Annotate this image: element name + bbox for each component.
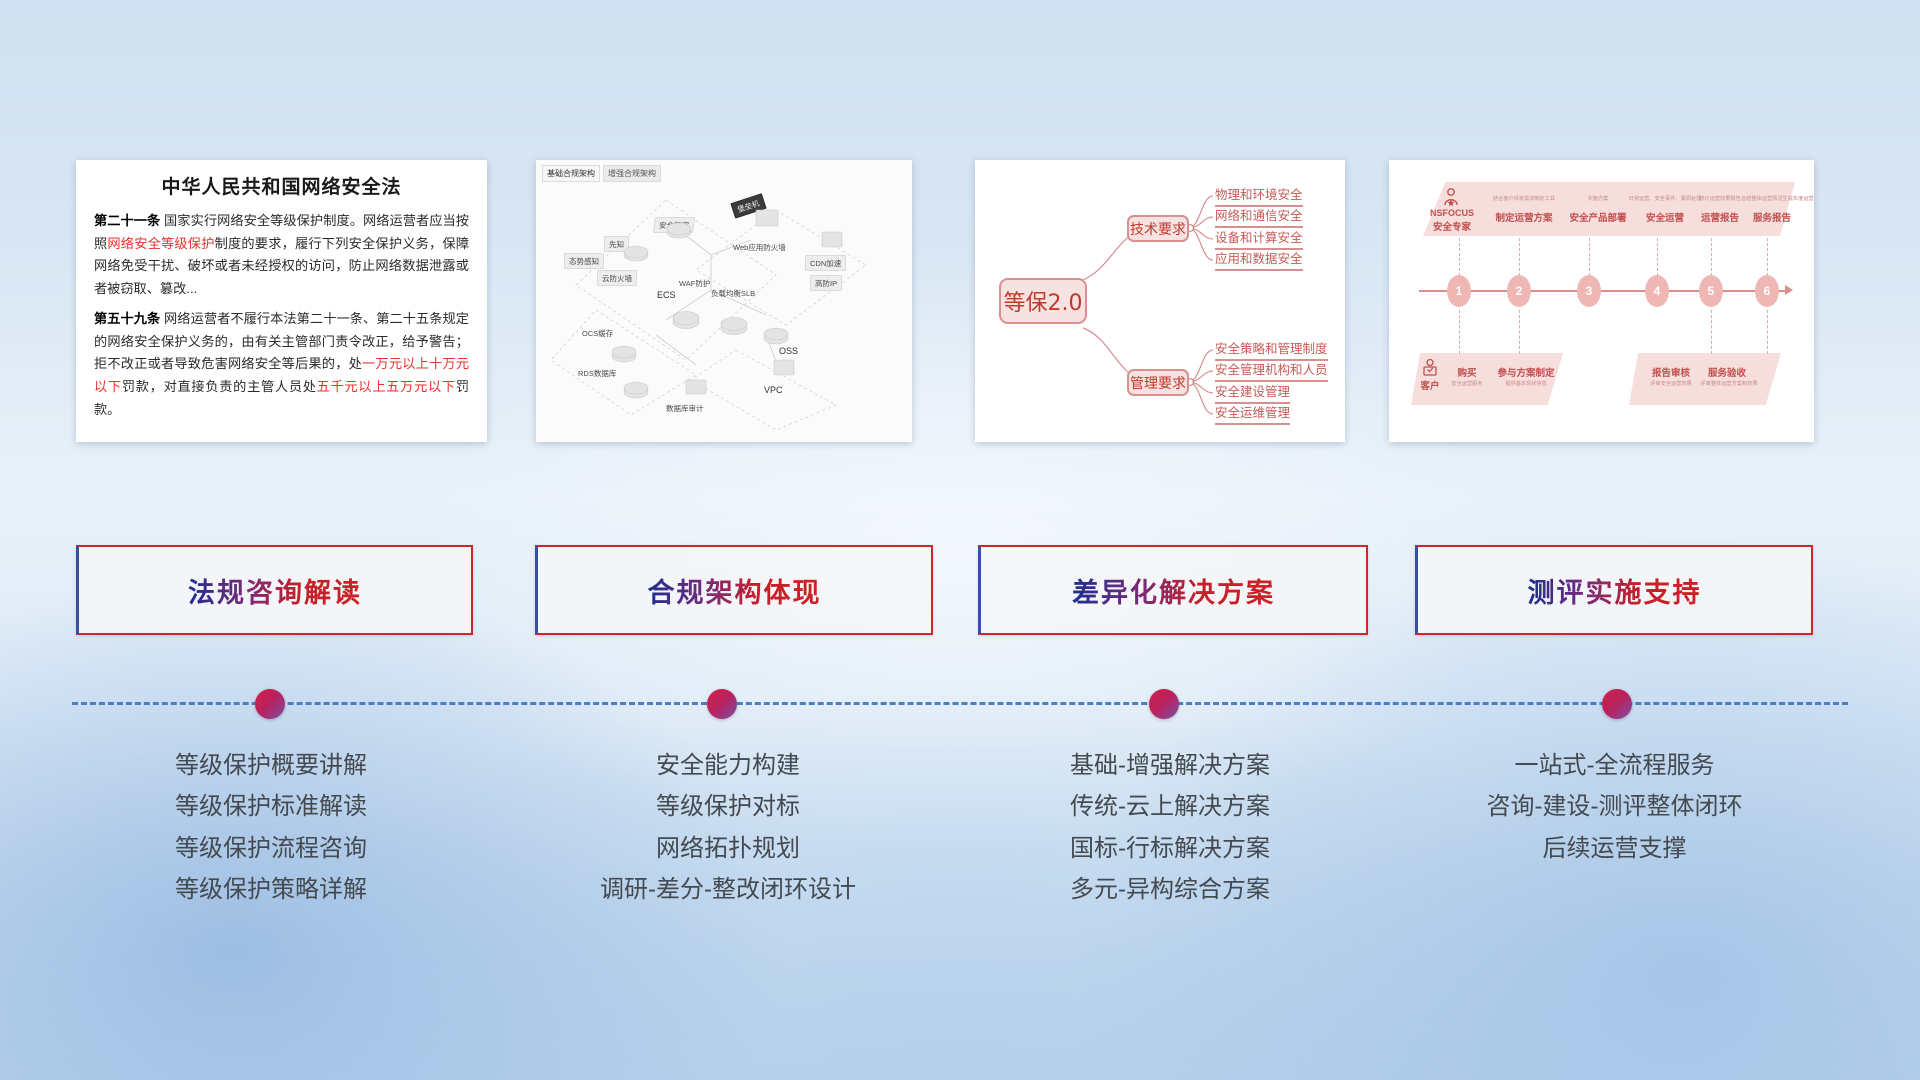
heading-box-differentiated-solutions[interactable]: 差异化解决方案: [978, 545, 1368, 635]
mindmap-root-node: 等保2.0: [999, 278, 1087, 324]
heading-label-3: 差异化解决方案: [1072, 571, 1275, 610]
nsfocus-top-main-1: 制定运营方案: [1485, 210, 1563, 224]
nsfocus-top-main-2: 安全产品部署: [1565, 210, 1631, 224]
mindmap-branch-management: 管理要求: [1127, 369, 1189, 396]
list-item: 多元-异构综合方案: [970, 869, 1370, 910]
nsfocus-top-main-3: 安全运营: [1633, 210, 1697, 224]
mindmap-leaf-org-personnel: 安全管理机构和人员: [1215, 359, 1328, 382]
feature-lists-row: 等级保护概要讲解 等级保护标准解读 等级保护流程咨询 等级保护策略详解 安全能力…: [0, 745, 1920, 945]
nsfocus-bottom-sub-4: 评审整体运营方案和效果: [1695, 380, 1763, 387]
heading-label-2: 合规架构体现: [648, 571, 822, 610]
timeline-dot-3: [1149, 689, 1179, 719]
mindmap-leaf-ops-mgmt: 安全运维管理: [1215, 402, 1290, 425]
nsfocus-connector-1: [1459, 238, 1460, 276]
law-title: 中华人民共和国网络安全法: [94, 172, 469, 199]
list-item: 等级保护策略详解: [76, 869, 466, 910]
architecture-diagram: 基础合规架构 增强合规架构 堡垒机 安全管家 先知: [536, 160, 912, 442]
feature-list-3: 基础-增强解决方案 传统-云上解决方案 国标-行标解决方案 多元-异构综合方案: [970, 745, 1370, 910]
nsfocus-connector-6: [1767, 238, 1768, 276]
mindmap-leaf-construction-mgmt: 安全建设管理: [1215, 381, 1290, 404]
nsfocus-connector-4: [1657, 238, 1658, 276]
thumbnail-cards-row: 中华人民共和国网络安全法 第二十一条 国家实行网络安全等级保护制度。网络运营者应…: [0, 152, 1920, 442]
mindmap-leaf-policy-system: 安全策略和管理制度: [1215, 338, 1328, 361]
nsfocus-top-band: [1423, 182, 1795, 236]
list-item: 后续运营支撑: [1412, 828, 1817, 869]
nsfocus-step-2: 2: [1507, 275, 1531, 307]
article-59-label: 第五十九条: [94, 311, 160, 326]
nsfocus-connector-10: [1767, 310, 1768, 354]
nsfocus-bottom-band-right: [1629, 353, 1781, 405]
nsfocus-bottom-main-2: 参与方案制定: [1493, 365, 1559, 379]
nsfocus-bottom-sub-1: 安全运营服务: [1443, 380, 1491, 387]
article-59-text-2: 罚款，对直接负责的主管人员处: [122, 379, 317, 394]
feature-list-4: 一站式-全流程服务 咨询-建设-测评整体闭环 后续运营支撑: [1412, 745, 1817, 869]
timeline-dot-4: [1602, 689, 1632, 719]
heading-box-regulation-consulting[interactable]: 法规咨询解读: [76, 545, 473, 635]
nsfocus-bottom-main-4: 服务验收: [1701, 365, 1753, 379]
list-item: 网络拓扑规划: [528, 828, 928, 869]
nsfocus-bottom-main-1: 购买: [1447, 365, 1487, 379]
nsfocus-step-6: 6: [1755, 275, 1779, 307]
mindmap-branch-technical: 技术要求: [1127, 215, 1189, 242]
nsfocus-connector-3: [1589, 238, 1590, 276]
list-item: 咨询-建设-测评整体闭环: [1412, 786, 1817, 827]
list-item: 安全能力构建: [528, 745, 928, 786]
card-compliance-architecture[interactable]: 基础合规架构 增强合规架构 堡垒机 安全管家 先知: [536, 160, 912, 442]
nsfocus-step-1: 1: [1447, 275, 1471, 307]
list-item: 等级保护对标: [528, 786, 928, 827]
timeline-connector: [0, 684, 1920, 724]
law-content: 中华人民共和国网络安全法 第二十一条 国家实行网络安全等级保护制度。网络运营者应…: [76, 160, 487, 436]
nsfocus-bottom-sub-3: 评审安全运营效果: [1639, 380, 1703, 387]
list-item: 等级保护概要讲解: [76, 745, 466, 786]
card-cybersecurity-law[interactable]: 中华人民共和国网络安全法 第二十一条 国家实行网络安全等级保护制度。网络运营者应…: [76, 160, 487, 442]
list-item: 国标-行标解决方案: [970, 828, 1370, 869]
nsfocus-connector-7: [1459, 310, 1460, 354]
nsfocus-diagram: NSFOCUS 安全专家 结合客户现状需求制定工具 制定运营方案 实施方案 安全…: [1389, 160, 1814, 442]
nsfocus-step-4: 4: [1645, 275, 1669, 307]
nsfocus-step-5: 5: [1699, 275, 1723, 307]
mindmap-diagram: 等保2.0 技术要求 物理和环境安全 网络和通信安全 设备和计算安全 应用和数据…: [975, 160, 1345, 442]
nsfocus-customer-label: 客户: [1417, 378, 1443, 392]
timeline-dot-2: [707, 689, 737, 719]
nsfocus-bottom-main-3: 报告审核: [1645, 365, 1697, 379]
list-item: 基础-增强解决方案: [970, 745, 1370, 786]
nsfocus-bottom-sub-2: 提供基本现状信息: [1493, 380, 1559, 387]
nsfocus-top-sub-2: 实施方案: [1565, 195, 1631, 202]
mindmap-leaf-physical-env: 物理和环境安全: [1215, 184, 1303, 207]
timeline-dashed-line: [72, 702, 1848, 705]
feature-list-1: 等级保护概要讲解 等级保护标准解读 等级保护流程咨询 等级保护策略详解: [76, 745, 466, 910]
list-item: 等级保护流程咨询: [76, 828, 466, 869]
list-item: 一站式-全流程服务: [1412, 745, 1817, 786]
nsfocus-top-main-5: 服务报告: [1741, 210, 1803, 224]
nsfocus-step-3: 3: [1577, 275, 1601, 307]
list-item: 调研-差分-整改闭环设计: [528, 869, 928, 910]
nsfocus-expert-label: 安全专家: [1429, 219, 1475, 233]
card-nsfocus-service-flow[interactable]: NSFOCUS 安全专家 结合客户现状需求制定工具 制定运营方案 实施方案 安全…: [1389, 160, 1814, 442]
nsfocus-timeline-axis: [1419, 290, 1787, 292]
nsfocus-connector-9: [1711, 310, 1712, 354]
nsfocus-connector-5: [1711, 238, 1712, 276]
heading-box-compliance-architecture[interactable]: 合规架构体现: [535, 545, 933, 635]
security-expert-icon: [1441, 187, 1461, 207]
nsfocus-top-sub-5: 总结整体运营情况生成年度运营报告: [1741, 195, 1803, 202]
nsfocus-expert-brand: NSFOCUS: [1429, 208, 1475, 218]
list-item: 传统-云上解决方案: [970, 786, 1370, 827]
law-article-21: 第二十一条 国家实行网络安全等级保护制度。网络运营者应当按照网络安全等级保护制度…: [94, 210, 469, 301]
article-59-highlight-2: 五千元以上五万元以下: [317, 379, 456, 394]
heading-label-1: 法规咨询解读: [188, 571, 362, 610]
nsfocus-timeline-arrow-icon: [1785, 285, 1793, 295]
heading-box-evaluation-support[interactable]: 测评实施支持: [1415, 545, 1813, 635]
mindmap-leaf-app-data: 应用和数据安全: [1215, 248, 1303, 271]
card-mindmap-dengbao[interactable]: 等保2.0 技术要求 物理和环境安全 网络和通信安全 设备和计算安全 应用和数据…: [975, 160, 1345, 442]
nsfocus-top-sub-1: 结合客户现状需求制定工具: [1485, 195, 1563, 202]
mindmap-leaf-device-compute: 设备和计算安全: [1215, 227, 1303, 250]
headings-row: 法规咨询解读 合规架构体现 差异化解决方案 测评实施支持: [0, 545, 1920, 635]
timeline-dot-1: [255, 689, 285, 719]
customer-icon: [1421, 358, 1439, 376]
list-item: 等级保护标准解读: [76, 786, 466, 827]
law-article-59: 第五十九条 网络运营者不履行本法第二十一条、第二十五条规定的网络安全保护义务的，…: [94, 308, 469, 422]
mindmap-leaf-network-comm: 网络和通信安全: [1215, 205, 1303, 228]
heading-label-4: 测评实施支持: [1528, 571, 1702, 610]
architecture-icons: [536, 160, 912, 442]
feature-list-2: 安全能力构建 等级保护对标 网络拓扑规划 调研-差分-整改闭环设计: [528, 745, 928, 910]
article-21-label: 第二十一条: [94, 213, 160, 228]
article-21-highlight: 网络安全等级保护: [107, 236, 214, 251]
nsfocus-connector-8: [1519, 310, 1520, 354]
nsfocus-connector-2: [1519, 238, 1520, 276]
